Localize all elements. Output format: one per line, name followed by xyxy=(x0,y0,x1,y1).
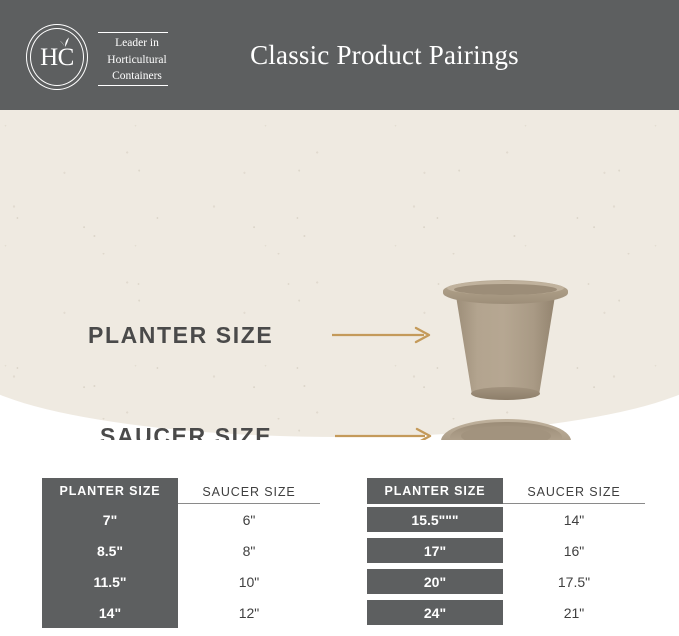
cell-planter-size: 8.5" xyxy=(42,535,178,566)
cell-planter-size: 11.5" xyxy=(42,566,178,597)
cell-planter-size: 17" xyxy=(367,538,503,563)
cell-saucer-size: 17.5" xyxy=(503,566,645,597)
cell-planter-size: 24" xyxy=(367,600,503,625)
pairing-table-right: PLANTER SIZE SAUCER SIZE 15.5""" 14" 17"… xyxy=(367,478,645,628)
column-header-planter: PLANTER SIZE xyxy=(367,478,503,504)
table-row: 24" 21" xyxy=(367,597,645,628)
planter-size-label: PLANTER SIZE xyxy=(88,322,273,349)
planter-arrow-icon xyxy=(332,326,434,344)
table-row: 15.5""" 14" xyxy=(367,504,645,535)
planter-base xyxy=(471,387,540,400)
pairing-table-left: PLANTER SIZE SAUCER SIZE 7" 6" 8.5" 8" 1… xyxy=(42,478,320,628)
saucer-illustration xyxy=(441,415,571,440)
cell-saucer-size: 21" xyxy=(503,597,645,628)
cell-planter-size: 14" xyxy=(42,597,178,628)
planter-body xyxy=(456,296,555,394)
column-header-saucer: SAUCER SIZE xyxy=(503,481,645,504)
product-pairings-infographic: HC Leader in Horticultural Containers Cl… xyxy=(0,0,679,636)
table-row: 11.5" 10" xyxy=(42,566,320,597)
cell-planter-size: 15.5""" xyxy=(367,507,503,532)
planter-illustration xyxy=(443,280,568,400)
planter-mouth xyxy=(454,284,557,295)
saucer-size-label: SAUCER SIZE xyxy=(100,423,272,440)
column-header-planter: PLANTER SIZE xyxy=(42,478,178,504)
table-body: 15.5""" 14" 17" 16" 20" 17.5" 24" 21" xyxy=(367,504,645,628)
column-header-saucer: SAUCER SIZE xyxy=(178,481,320,504)
cell-saucer-size: 12" xyxy=(178,597,320,628)
cell-saucer-size: 8" xyxy=(178,535,320,566)
table-header-row: PLANTER SIZE SAUCER SIZE xyxy=(42,478,320,504)
cell-planter-size: 20" xyxy=(367,569,503,594)
table-row: 17" 16" xyxy=(367,535,645,566)
cell-saucer-size: 16" xyxy=(503,535,645,566)
header-bar: HC Leader in Horticultural Containers Cl… xyxy=(0,0,679,110)
saucer-arrow-icon xyxy=(335,427,435,440)
table-row: 14" 12" xyxy=(42,597,320,628)
table-header-row: PLANTER SIZE SAUCER SIZE xyxy=(367,478,645,504)
cell-saucer-size: 14" xyxy=(503,504,645,535)
page-title: Classic Product Pairings xyxy=(0,0,679,110)
table-row: 8.5" 8" xyxy=(42,535,320,566)
table-row: 7" 6" xyxy=(42,504,320,535)
table-body: 7" 6" 8.5" 8" 11.5" 10" 14" 12" xyxy=(42,504,320,628)
cell-saucer-size: 10" xyxy=(178,566,320,597)
cell-saucer-size: 6" xyxy=(178,504,320,535)
table-row: 20" 17.5" xyxy=(367,566,645,597)
saucer-well xyxy=(461,426,551,440)
cell-planter-size: 7" xyxy=(42,504,178,535)
hero-texture xyxy=(0,110,679,437)
hero-section: PLANTER SIZE SAUCER SIZE xyxy=(0,110,679,440)
